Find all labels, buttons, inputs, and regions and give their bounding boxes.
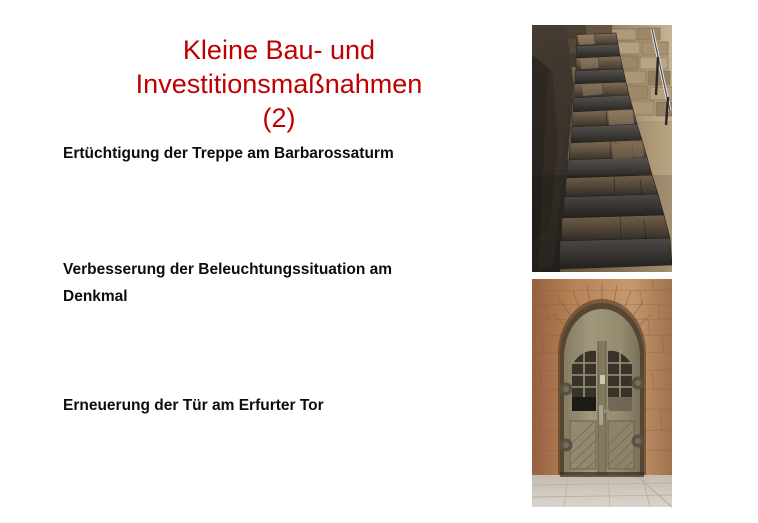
bullet-item-1: Ertüchtigung der Treppe am Barbarossatur… xyxy=(63,140,463,167)
page-title: Kleine Bau- und Investitionsmaßnahmen (2… xyxy=(36,33,522,135)
arched-door-illustration xyxy=(532,279,672,507)
stone-staircase-illustration xyxy=(532,25,672,272)
stone-staircase-photo xyxy=(532,25,672,272)
presentation-slide: Kleine Bau- und Investitionsmaßnahmen (2… xyxy=(0,0,758,523)
bullet-item-3: Erneuerung der Tür am Erfurter Tor xyxy=(63,392,463,419)
arched-door-photo xyxy=(532,279,672,507)
bullet-item-2: Verbesserung der Beleuchtungssituation a… xyxy=(63,256,463,310)
